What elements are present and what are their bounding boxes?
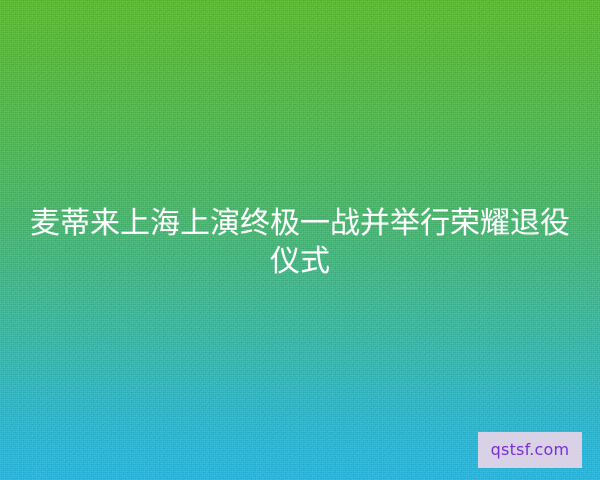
banner-image: 麦蒂来上海上演终极一战并举行荣耀退役仪式 qstsf.com — [0, 0, 600, 480]
watermark-badge: qstsf.com — [478, 432, 582, 468]
banner-headline: 麦蒂来上海上演终极一战并举行荣耀退役仪式 — [0, 205, 600, 281]
watermark-label: qstsf.com — [491, 442, 570, 458]
